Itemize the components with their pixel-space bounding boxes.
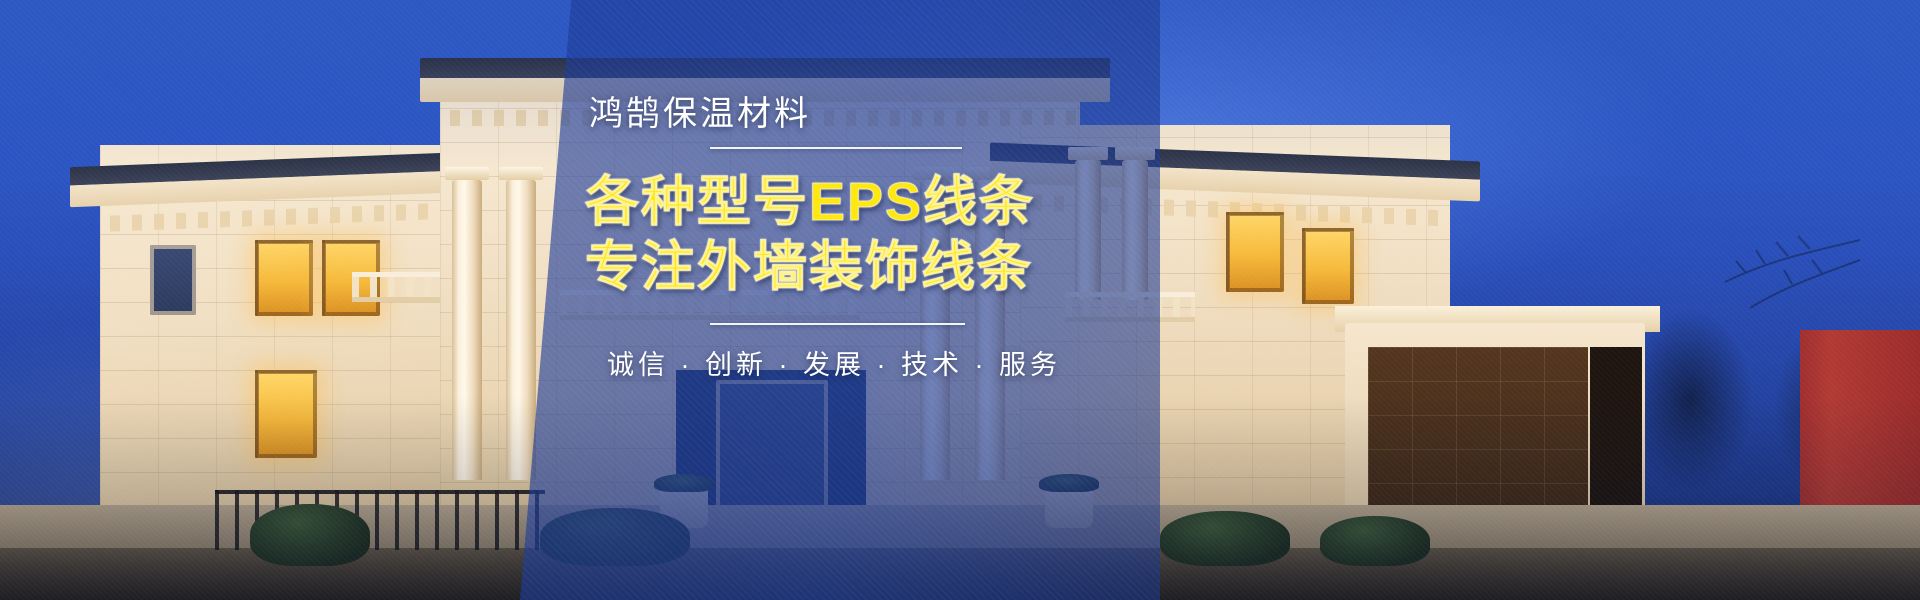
banner-copy: 鸿鹄保温材料 各种型号EPS线条 专注外墙装饰线条 诚信 · 创新 · 发展 ·… xyxy=(585,96,1205,382)
promo-banner: 鸿鹄保温材料 各种型号EPS线条 专注外墙装饰线条 诚信 · 创新 · 发展 ·… xyxy=(0,0,1920,600)
company-tagline: 诚信 · 创新 · 发展 · 技术 · 服务 xyxy=(607,343,1205,382)
divider-bottom xyxy=(710,323,965,325)
headline-line-2: 专注外墙装饰线条 xyxy=(585,236,1205,299)
company-name: 鸿鹄保温材料 xyxy=(589,96,1205,133)
divider-top xyxy=(710,147,962,149)
headline-line-1: 各种型号EPS线条 xyxy=(585,171,1205,234)
